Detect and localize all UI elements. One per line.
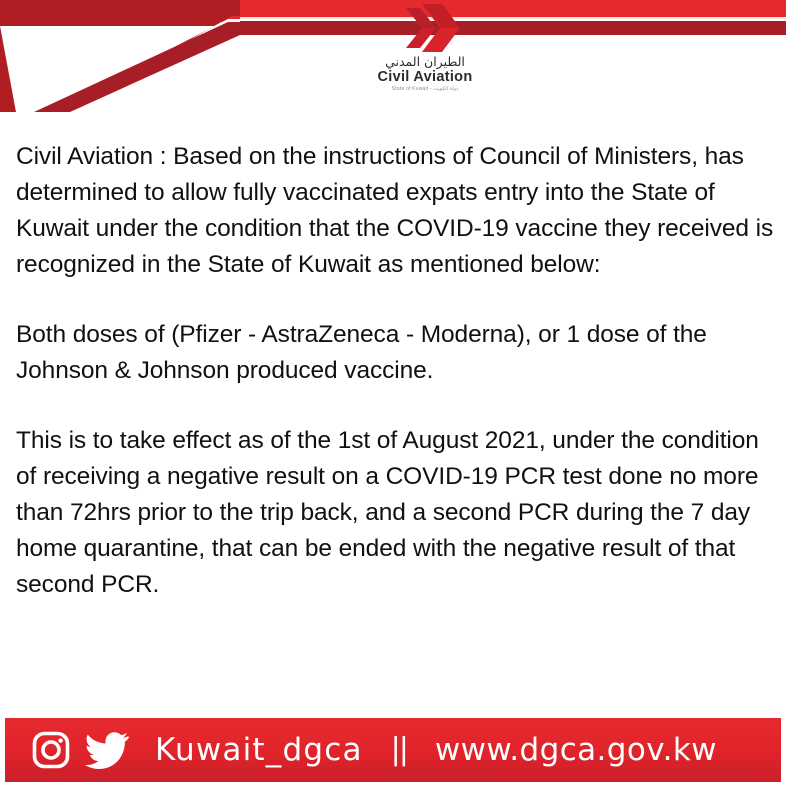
twitter-icon[interactable] <box>85 730 129 770</box>
top-banner: الطيران المدني Civil Aviation State of K… <box>0 0 786 112</box>
footer-separator: || <box>391 735 407 765</box>
website-url-text[interactable]: www.dgca.gov.kw <box>435 735 717 766</box>
announcement-body: Civil Aviation : Based on the instructio… <box>16 139 776 603</box>
civil-aviation-logo: الطيران المدني Civil Aviation State of K… <box>360 2 490 106</box>
paragraph-effective-date-and-pcr: This is to take effect as of the 1st of … <box>16 423 776 603</box>
double-chevron-icon <box>386 2 464 54</box>
social-handle-text[interactable]: Kuwait_dgca <box>155 735 363 766</box>
contact-footer-bar: Kuwait_dgca || www.dgca.gov.kw <box>5 718 781 782</box>
footer-content: Kuwait_dgca || www.dgca.gov.kw <box>5 730 781 770</box>
logo-arabic-text: الطيران المدني <box>360 55 490 69</box>
paragraph-vaccinated-expats-entry: Civil Aviation : Based on the instructio… <box>16 139 776 283</box>
instagram-icon[interactable] <box>31 730 71 770</box>
logo-english-text: Civil Aviation <box>360 70 490 85</box>
paragraph-accepted-vaccines: Both doses of (Pfizer - AstraZeneca - Mo… <box>16 317 776 389</box>
logo-subtitle-text: State of Kuwait - دولة الكويت <box>360 87 490 92</box>
